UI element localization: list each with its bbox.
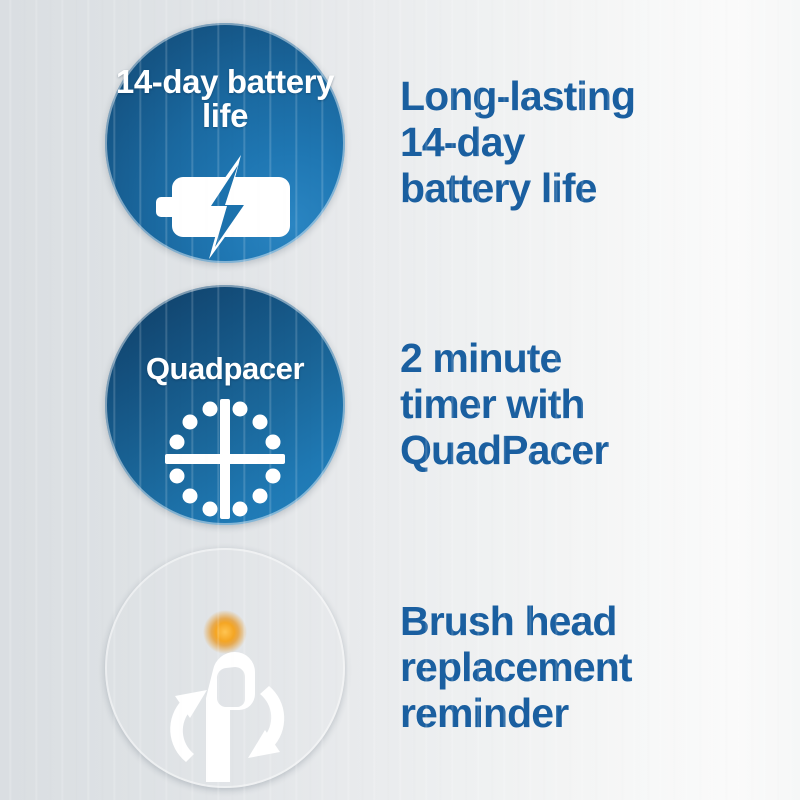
headline-line-3: battery life xyxy=(400,166,776,212)
headline-line-1: Brush head xyxy=(400,599,776,645)
feature-headline-brush-head-reminder: Brush head replacement reminder xyxy=(400,599,800,737)
badge-caption-battery-life: 14-day battery life xyxy=(105,65,345,132)
feature-row-brush-head-reminder: Brush head replacement reminder xyxy=(0,546,800,790)
badge-caption-line-2: battery life xyxy=(202,63,334,134)
headline-line-2: replacement xyxy=(400,645,776,691)
brush-head-replacement-icon xyxy=(105,610,345,790)
badge-caption-line-1: 14-day xyxy=(116,63,218,100)
indicator-glow xyxy=(203,610,247,654)
headline-line-3: QuadPacer xyxy=(400,428,776,474)
badge-caption-line-1: Quadpacer xyxy=(146,351,304,386)
feature-infographic: 14-day battery life Long-lasting 14-day … xyxy=(0,0,800,800)
feature-row-quadpacer: Quadpacer xyxy=(0,285,800,525)
badge-brush-head-reminder xyxy=(105,548,345,788)
headline-line-1: 2 minute xyxy=(400,336,776,382)
badge-battery-life: 14-day battery life xyxy=(105,23,345,263)
feature-headline-battery-life: Long-lasting 14-day battery life xyxy=(400,74,800,212)
badge-caption-quadpacer: Quadpacer xyxy=(105,353,345,385)
quadrant-timer-dots-icon xyxy=(105,397,345,521)
headline-line-2: timer with xyxy=(400,382,776,428)
headline-line-2: 14-day xyxy=(400,120,776,166)
headline-line-3: reminder xyxy=(400,691,776,737)
feature-row-battery-life: 14-day battery life Long-lasting 14-day … xyxy=(0,23,800,263)
battery-charging-icon xyxy=(105,155,345,259)
headline-line-1: Long-lasting xyxy=(400,74,776,120)
badge-quadpacer: Quadpacer xyxy=(105,285,345,525)
feature-headline-quadpacer: 2 minute timer with QuadPacer xyxy=(400,336,800,474)
